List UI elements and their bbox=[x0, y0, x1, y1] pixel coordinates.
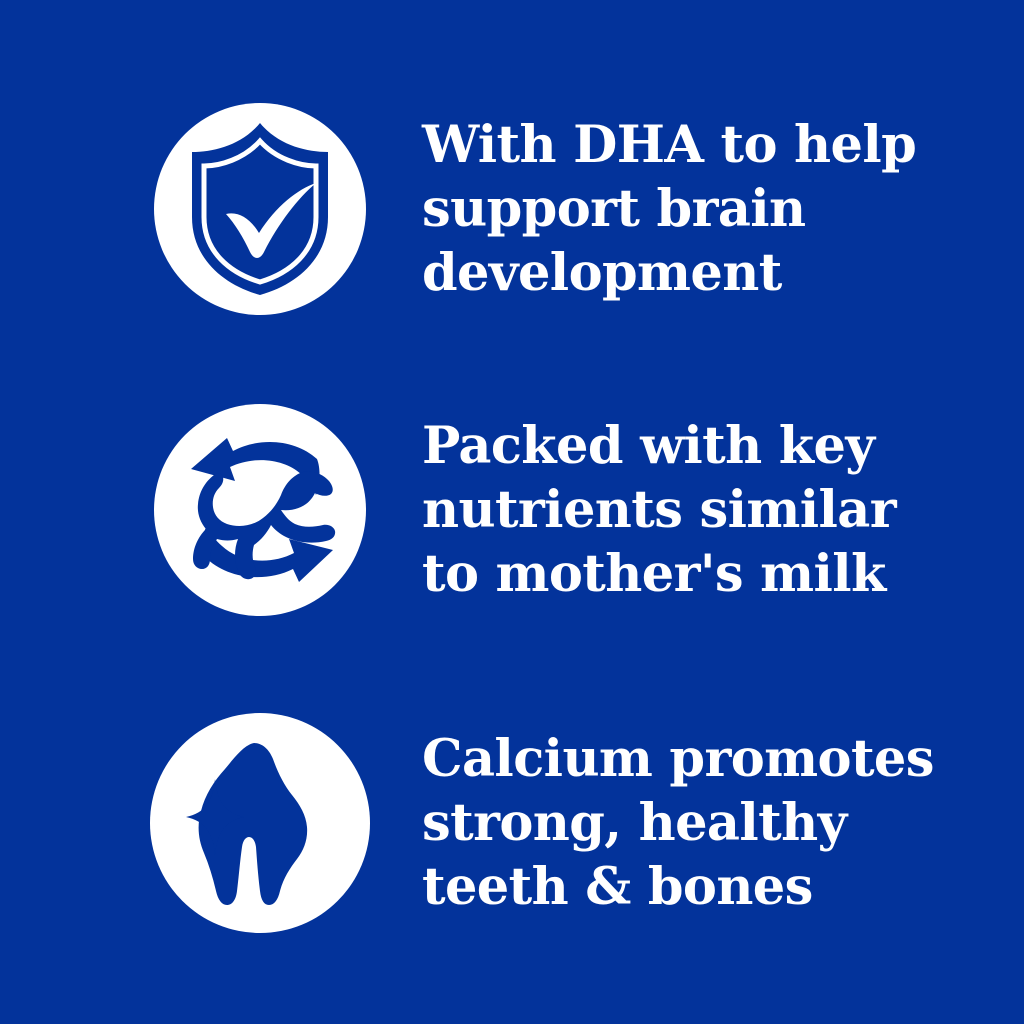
shield-check-icon bbox=[154, 103, 366, 315]
benefit-text-calcium: Calcium promotes strong, healthy teeth &… bbox=[422, 727, 1000, 919]
benefits-panel: With DHA to help support brain developme… bbox=[0, 0, 1024, 1024]
benefit-item-nutrients: Packed with key nutrients similar to mot… bbox=[0, 404, 1024, 616]
benefit-item-dha: With DHA to help support brain developme… bbox=[0, 103, 1024, 315]
benefit-item-calcium: Calcium promotes strong, healthy teeth &… bbox=[0, 713, 1024, 933]
benefit-text-nutrients: Packed with key nutrients similar to mot… bbox=[422, 414, 1000, 606]
running-dog-arrows-icon bbox=[154, 404, 366, 616]
tooth-sparkle-icon bbox=[150, 713, 370, 933]
benefit-text-dha: With DHA to help support brain developme… bbox=[422, 113, 1000, 305]
